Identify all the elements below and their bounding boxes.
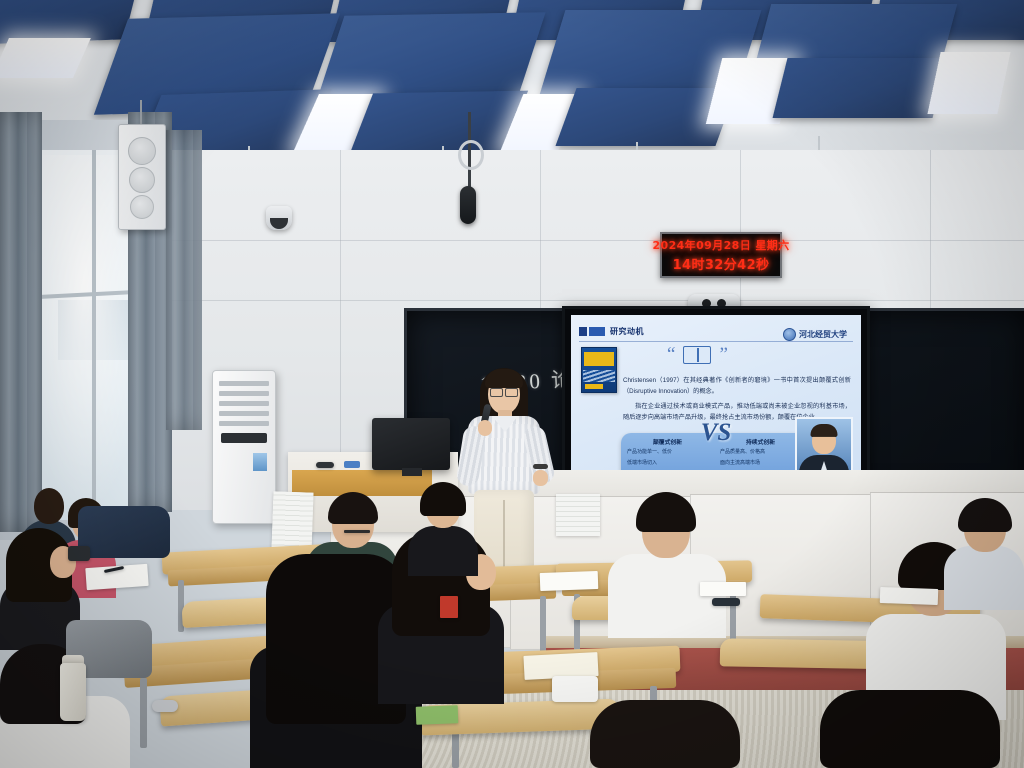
comparison-left-item: 低端市场切入 <box>627 459 708 468</box>
slide-header: 研究动机 河北经贸大学 <box>579 321 853 342</box>
podium-remote <box>316 462 334 468</box>
quote-open-icon: “ <box>667 345 675 364</box>
led-clock-display: 2024年09月28日 星期六 14时32分42秒 <box>660 232 782 278</box>
comparison-right-item: 产品质量高、价格高 <box>720 448 801 457</box>
comparison-right-heading: 持续式创新 <box>720 437 801 446</box>
university-logo: 河北经贸大学 <box>783 328 847 341</box>
mobile-phone <box>68 546 90 561</box>
comparison-left-item: 产品功能单一、低价 <box>627 448 708 457</box>
ac-energy-label <box>253 453 267 471</box>
audience-member <box>820 690 1000 768</box>
air-conditioner-unit <box>212 370 276 524</box>
tissue-pack <box>552 676 598 702</box>
window-curtain-left <box>0 112 42 532</box>
university-seal-icon <box>783 328 796 341</box>
window-curtain-right <box>166 130 202 430</box>
notebook <box>700 582 746 596</box>
wall-speaker <box>118 124 166 230</box>
led-clock-date: 2024年09月28日 星期六 <box>652 237 789 253</box>
red-badge <box>440 596 458 618</box>
notebook-grid-page <box>556 494 600 536</box>
audience-member <box>590 700 740 768</box>
slide-quote-decoration: “ ” <box>667 345 728 364</box>
glasses-temple <box>344 530 370 533</box>
thermos-bottle <box>60 663 86 721</box>
dome-security-camera <box>266 206 292 230</box>
notebook <box>880 587 939 605</box>
led-clock-time: 14时32分42秒 <box>673 254 770 273</box>
window-mullion <box>92 150 96 520</box>
versus-label: VS <box>701 419 732 447</box>
ceiling-light-panel <box>927 52 1010 114</box>
presenter-wristwatch <box>533 464 548 469</box>
ceiling-acoustic-panel <box>350 91 528 154</box>
slide-header-marker-icon <box>589 327 605 336</box>
comparison-right-item: 面向主流高端市场 <box>720 459 801 468</box>
microphone-clip-icon <box>458 140 484 170</box>
presentation-slide: 研究动机 河北经贸大学 “ ” Christensen（1997）在其经典著作《… <box>571 315 861 489</box>
bracelet <box>152 700 178 712</box>
mobile-phone <box>712 598 740 606</box>
booklet <box>416 705 459 724</box>
slide-header-marker-icon <box>579 327 587 336</box>
slide-paragraph-1: Christensen（1997）在其经典著作《创新者的窘境》一书中首次提出颠覆… <box>623 375 851 398</box>
ceiling-light-panel <box>0 38 91 78</box>
presenter-glasses-icon <box>490 388 518 395</box>
ac-control-panel[interactable] <box>221 433 267 443</box>
monitor-stand <box>402 468 422 476</box>
hanging-microphone <box>460 186 476 224</box>
slide-title: 研究动机 <box>610 326 644 337</box>
comparison-left-heading: 颠覆式创新 <box>627 437 708 446</box>
notebook <box>540 571 599 591</box>
ceiling-acoustic-panel <box>773 58 948 118</box>
audience-member <box>608 496 726 636</box>
audience-member <box>944 500 1024 608</box>
lecture-hall-photo: 2024年09月28日 星期六 14时32分42秒 13:30 论坛 研究动机 … <box>0 0 1024 768</box>
quote-close-icon: ” <box>719 345 727 364</box>
book-cover-image <box>581 347 617 393</box>
podium-monitor <box>372 418 450 470</box>
audience-backpack <box>78 506 170 558</box>
podium-marker <box>344 461 360 468</box>
audience-member <box>408 486 478 574</box>
university-name: 河北经贸大学 <box>799 329 847 340</box>
open-book-icon <box>683 346 711 364</box>
